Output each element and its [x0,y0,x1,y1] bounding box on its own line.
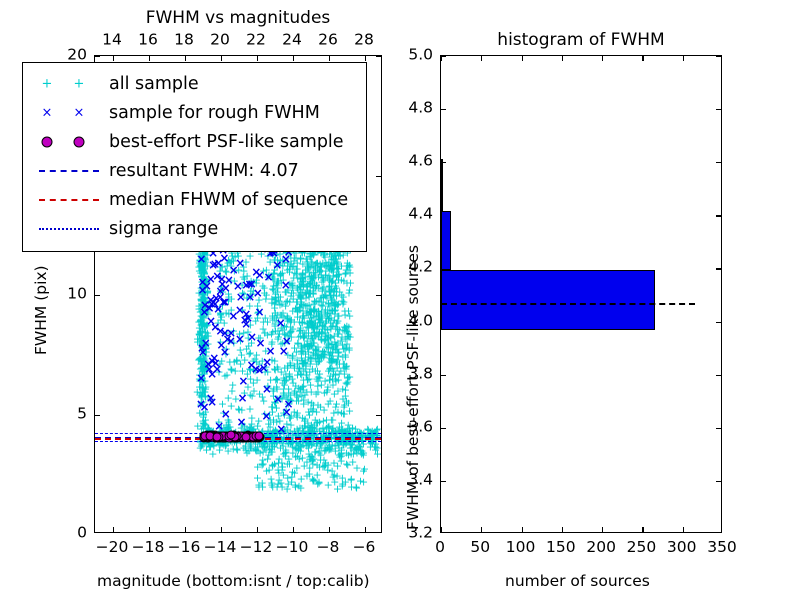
scatter-point-all-sample: + [272,403,281,414]
scatter-point-rough-fwhm: × [196,253,206,265]
hist-x-tick [522,527,523,532]
scatter-point-all-sample: + [224,255,233,266]
scatter-point-all-sample: + [299,279,308,290]
scatter-point-all-sample: + [320,347,329,358]
scatter-point-all-sample: + [200,268,209,279]
scatter-point-all-sample: + [199,387,208,398]
scatter-point-all-sample: + [308,285,317,296]
scatter-point-all-sample: + [195,329,204,340]
scatter-point-all-sample: + [325,443,334,454]
y-ticklabel: 20 [67,47,87,63]
scatter-point-all-sample: + [307,355,316,366]
scatter-point-all-sample: + [244,445,253,456]
scatter-point-all-sample: + [196,303,205,314]
scatter-point-all-sample: + [340,325,349,336]
scatter-point-all-sample: + [296,330,305,341]
scatter-point-all-sample: + [247,442,256,453]
scatter-point-all-sample: + [307,454,316,465]
scatter-point-all-sample: + [196,268,205,279]
scatter-point-all-sample: + [333,311,342,322]
scatter-point-all-sample: + [298,269,307,280]
scatter-point-all-sample: + [307,387,316,398]
scatter-point-all-sample: + [202,347,211,358]
scatter-point-all-sample: + [331,298,340,309]
scatter-point-all-sample: + [305,318,314,329]
scatter-point-all-sample: + [264,465,273,476]
scatter-point-all-sample: + [288,351,297,362]
scatter-point-all-sample: + [318,324,327,335]
scatter-point-rough-fwhm: × [254,364,264,376]
scatter-point-rough-fwhm: × [209,352,219,364]
x-ticklabel: −16 [168,540,201,556]
scatter-point-all-sample: + [300,415,309,426]
scatter-point-all-sample: + [321,309,330,320]
scatter-point-all-sample: + [325,264,334,275]
scatter-point-all-sample: + [271,307,280,318]
scatter-point-all-sample: + [315,478,324,489]
x-tick-top [149,56,150,61]
plus-marker-icon: + [42,77,53,90]
scatter-point-all-sample: + [330,470,339,481]
scatter-point-all-sample: + [238,365,247,376]
scatter-point-all-sample: + [332,298,341,309]
scatter-point-all-sample: + [198,283,207,294]
scatter-point-all-sample: + [203,320,212,331]
scatter-point-all-sample: + [318,283,327,294]
scatter-point-all-sample: + [299,275,308,286]
scatter-point-all-sample: + [198,311,207,322]
scatter-point-all-sample: + [258,392,267,403]
scatter-point-all-sample: + [314,477,323,488]
scatter-point-all-sample: + [342,333,351,344]
scatter-point-all-sample: + [321,304,330,315]
scatter-point-all-sample: + [221,349,230,360]
scatter-point-all-sample: + [318,320,327,331]
scatter-point-all-sample: + [325,301,334,312]
scatter-point-all-sample: + [288,467,297,478]
scatter-point-all-sample: + [296,483,305,494]
scatter-point-all-sample: + [312,406,321,417]
scatter-point-all-sample: + [301,264,310,275]
scatter-point-all-sample: + [276,478,285,489]
scatter-point-all-sample: + [272,374,281,385]
x-tick-top [365,56,366,61]
scatter-point-all-sample: + [307,315,316,326]
scatter-point-all-sample: + [195,369,204,380]
scatter-point-all-sample: + [199,299,208,310]
legend-item-label: sample for rough FWHM [109,103,320,123]
scatter-point-all-sample: + [200,365,209,376]
scatter-point-all-sample: + [302,281,311,292]
scatter-point-all-sample: + [357,446,366,457]
scatter-point-rough-fwhm: × [203,358,213,370]
scatter-point-all-sample: + [255,388,264,399]
scatter-point-all-sample: + [318,461,327,472]
scatter-point-all-sample: + [274,317,283,328]
scatter-point-all-sample: + [202,331,211,342]
scatter-point-rough-fwhm: × [244,278,254,290]
scatter-point-all-sample: + [200,355,209,366]
scatter-point-all-sample: + [203,288,212,299]
scatter-point-rough-fwhm: × [247,331,257,343]
scatter-point-all-sample: + [214,417,223,428]
scatter-point-all-sample: + [197,319,206,330]
scatter-point-all-sample: + [231,394,240,405]
scatter-point-all-sample: + [307,305,316,316]
scatter-point-all-sample: + [198,376,207,387]
scatter-point-all-sample: + [202,274,211,285]
scatter-point-all-sample: + [340,369,349,380]
scatter-point-all-sample: + [202,445,211,456]
scatter-point-all-sample: + [329,290,338,301]
scatter-point-all-sample: + [253,421,262,432]
scatter-point-all-sample: + [310,306,319,317]
scatter-point-all-sample: + [324,339,333,350]
scatter-point-rough-fwhm: × [199,401,209,413]
scatter-point-all-sample: + [338,394,347,405]
scatter-point-all-sample: + [321,457,330,468]
scatter-point-all-sample: + [197,331,206,342]
scatter-point-all-sample: + [328,262,337,273]
scatter-point-all-sample: + [371,442,380,453]
scatter-point-all-sample: + [294,425,303,436]
scatter-point-all-sample: + [200,369,209,380]
scatter-point-all-sample: + [306,453,315,464]
histogram-bar [441,270,655,330]
scatter-point-all-sample: + [227,294,236,305]
scatter-point-all-sample: + [267,355,276,366]
scatter-point-all-sample: + [343,257,352,268]
scatter-point-all-sample: + [337,275,346,286]
scatter-point-all-sample: + [312,295,321,306]
x-tick [113,527,114,532]
scatter-point-all-sample: + [332,470,341,481]
scatter-point-all-sample: + [247,412,256,423]
scatter-point-all-sample: + [344,397,353,408]
scatter-point-all-sample: + [303,341,312,352]
scatter-point-all-sample: + [302,386,311,397]
scatter-point-all-sample: + [364,425,373,436]
scatter-point-all-sample: + [344,449,353,460]
scatter-point-all-sample: + [320,442,329,453]
scatter-point-all-sample: + [340,321,349,332]
top-x-ticklabel: 24 [282,33,302,49]
hist-y-tick-right [716,109,721,110]
scatter-point-all-sample: + [327,426,336,437]
scatter-point-rough-fwhm: × [206,315,216,327]
scatter-point-all-sample: + [197,339,206,350]
scatter-point-all-sample: + [196,443,205,454]
scatter-point-all-sample: + [270,295,279,306]
scatter-point-all-sample: + [278,260,287,271]
scatter-point-all-sample: + [335,421,344,432]
scatter-point-all-sample: + [196,260,205,271]
scatter-point-rough-fwhm: × [217,278,227,290]
hist-x-tick [441,527,442,532]
scatter-point-all-sample: + [321,272,330,283]
scatter-point-all-sample: + [263,383,272,394]
scatter-point-all-sample: + [199,318,208,329]
scatter-point-all-sample: + [201,297,210,308]
scatter-point-all-sample: + [330,477,339,488]
scatter-point-all-sample: + [334,374,343,385]
scatter-point-all-sample: + [255,359,264,370]
hist-x-tick-top [562,56,563,61]
scatter-point-all-sample: + [203,339,212,350]
scatter-point-all-sample: + [216,336,225,347]
scatter-point-all-sample: + [314,314,323,325]
scatter-point-all-sample: + [269,268,278,279]
scatter-point-all-sample: + [194,287,203,298]
scatter-point-all-sample: + [200,336,209,347]
scatter-point-all-sample: + [291,381,300,392]
scatter-point-all-sample: + [201,331,210,342]
scatter-point-all-sample: + [287,278,296,289]
scatter-point-rough-fwhm: × [207,298,217,310]
scatter-point-all-sample: + [226,364,235,375]
scatter-point-all-sample: + [319,297,328,308]
scatter-point-all-sample: + [262,465,271,476]
plus-marker-icon: + [74,77,85,90]
scatter-point-all-sample: + [242,447,251,458]
scatter-point-all-sample: + [293,306,302,317]
scatter-point-all-sample: + [203,286,212,297]
scatter-point-all-sample: + [333,460,342,471]
scatter-point-all-sample: + [267,297,276,308]
scatter-point-all-sample: + [334,311,343,322]
scatter-point-all-sample: + [281,404,290,415]
scatter-point-all-sample: + [220,371,229,382]
scatter-point-all-sample: + [318,345,327,356]
scatter-point-rough-fwhm: × [266,345,276,357]
scatter-point-all-sample: + [260,283,269,294]
scatter-point-rough-fwhm: × [226,335,236,347]
scatter-point-all-sample: + [196,327,205,338]
scatter-point-all-sample: + [228,379,237,390]
scatter-point-all-sample: + [290,467,299,478]
scatter-point-all-sample: + [308,405,317,416]
scatter-point-all-sample: + [337,417,346,428]
scatter-point-all-sample: + [198,355,207,366]
hist-x-ticklabel: 100 [506,540,536,556]
scatter-point-all-sample: + [198,308,207,319]
scatter-point-all-sample: + [198,356,207,367]
scatter-point-all-sample: + [321,444,330,455]
scatter-point-all-sample: + [194,262,203,273]
scatter-point-all-sample: + [296,323,305,334]
scatter-point-all-sample: + [198,290,207,301]
scatter-point-all-sample: + [308,287,317,298]
scatter-point-all-sample: + [270,442,279,453]
scatter-point-all-sample: + [260,408,269,419]
scatter-point-all-sample: + [237,350,246,361]
scatter-point-all-sample: + [198,340,207,351]
scatter-point-all-sample: + [294,332,303,343]
scatter-point-all-sample: + [331,375,340,386]
scatter-point-all-sample: + [327,251,336,262]
scatter-point-all-sample: + [203,327,212,338]
scatter-point-all-sample: + [297,273,306,284]
scatter-point-rough-fwhm: × [224,274,234,286]
scatter-point-all-sample: + [299,310,308,321]
scatter-point-all-sample: + [333,343,342,354]
scatter-point-all-sample: + [277,322,286,333]
scatter-point-all-sample: + [279,383,288,394]
scatter-point-all-sample: + [287,395,296,406]
scatter-point-all-sample: + [293,272,302,283]
scatter-point-all-sample: + [268,311,277,322]
hist-y-ticklabel: 4.4 [408,207,433,223]
scatter-point-all-sample: + [198,263,207,274]
scatter-point-all-sample: + [290,317,299,328]
scatter-point-all-sample: + [273,333,282,344]
scatter-point-all-sample: + [250,365,259,376]
scatter-point-all-sample: + [337,450,346,461]
scatter-point-all-sample: + [280,329,289,340]
scatter-point-all-sample: + [307,330,316,341]
scatter-point-all-sample: + [269,391,278,402]
scatter-point-all-sample: + [298,276,307,287]
scatter-point-all-sample: + [331,253,340,264]
scatter-point-all-sample: + [268,441,277,452]
scatter-point-all-sample: + [199,266,208,277]
scatter-point-all-sample: + [292,355,301,366]
scatter-point-all-sample: + [200,272,209,283]
scatter-point-all-sample: + [312,323,321,334]
scatter-point-all-sample: + [320,460,329,471]
scatter-point-all-sample: + [335,287,344,298]
scatter-point-all-sample: + [221,265,230,276]
scatter-point-all-sample: + [274,411,283,422]
scatter-point-all-sample: + [301,301,310,312]
scatter-point-all-sample: + [301,287,310,298]
scatter-point-all-sample: + [309,475,318,486]
scatter-point-all-sample: + [224,422,233,433]
scatter-point-all-sample: + [299,425,308,436]
scatter-point-all-sample: + [251,315,260,326]
scatter-point-all-sample: + [302,265,311,276]
scatter-point-all-sample: + [296,369,305,380]
scatter-point-all-sample: + [305,271,314,282]
scatter-point-all-sample: + [297,346,306,357]
scatter-point-all-sample: + [317,379,326,390]
scatter-point-all-sample: + [324,441,333,452]
scatter-point-all-sample: + [261,361,270,372]
scatter-point-rough-fwhm: × [281,253,291,265]
scatter-point-all-sample: + [198,277,207,288]
scatter-point-all-sample: + [286,390,295,401]
scatter-point-all-sample: + [311,353,320,364]
scatter-point-all-sample: + [200,419,209,430]
scatter-point-all-sample: + [297,441,306,452]
scatter-point-all-sample: + [251,444,260,455]
scatter-point-all-sample: + [237,404,246,415]
scatter-point-all-sample: + [303,336,312,347]
scatter-point-all-sample: + [283,394,292,405]
scatter-point-all-sample: + [330,283,339,294]
scatter-point-all-sample: + [303,253,312,264]
scatter-point-all-sample: + [273,283,282,294]
scatter-point-all-sample: + [314,261,323,272]
scatter-point-all-sample: + [337,289,346,300]
scatter-point-all-sample: + [283,257,292,268]
scatter-point-all-sample: + [326,371,335,382]
scatter-point-all-sample: + [302,321,311,332]
scatter-point-all-sample: + [370,441,379,452]
scatter-point-all-sample: + [334,269,343,280]
scatter-point-rough-fwhm: × [207,368,217,380]
scatter-point-all-sample: + [277,310,286,321]
scatter-point-all-sample: + [328,355,337,366]
scatter-point-rough-fwhm: × [229,264,239,276]
scatter-point-all-sample: + [313,418,322,429]
scatter-point-all-sample: + [330,330,339,341]
scatter-point-all-sample: + [300,342,309,353]
scatter-point-all-sample: + [245,422,254,433]
scatter-point-all-sample: + [281,376,290,387]
scatter-point-all-sample: + [267,474,276,485]
scatter-point-all-sample: + [286,419,295,430]
scatter-point-all-sample: + [313,349,322,360]
scatter-point-all-sample: + [197,397,206,408]
scatter-point-all-sample: + [328,294,337,305]
scatter-point-all-sample: + [308,323,317,334]
scatter-point-all-sample: + [297,390,306,401]
scatter-point-all-sample: + [332,253,341,264]
scatter-point-all-sample: + [324,342,333,353]
scatter-point-all-sample: + [274,275,283,286]
scatter-point-all-sample: + [291,252,300,263]
scatter-point-all-sample: + [199,282,208,293]
scatter-point-all-sample: + [320,289,329,300]
scatter-point-all-sample: + [289,293,298,304]
scatter-point-all-sample: + [242,292,251,303]
scatter-point-rough-fwhm: × [219,296,229,308]
scatter-point-all-sample: + [311,311,320,322]
scatter-point-all-sample: + [316,333,325,344]
scatter-point-all-sample: + [197,258,206,269]
scatter-point-all-sample: + [328,465,337,476]
scatter-point-all-sample: + [326,322,335,333]
scatter-point-all-sample: + [308,279,317,290]
scatter-point-all-sample: + [278,377,287,388]
scatter-point-all-sample: + [327,354,336,365]
histogram-bar [441,211,451,271]
scatter-point-all-sample: + [331,341,340,352]
scatter-point-all-sample: + [314,372,323,383]
scatter-point-all-sample: + [305,261,314,272]
scatter-point-all-sample: + [297,340,306,351]
scatter-point-all-sample: + [322,414,331,425]
scatter-point-all-sample: + [299,300,308,311]
scatter-point-all-sample: + [279,469,288,480]
scatter-point-all-sample: + [276,270,285,281]
scatter-point-all-sample: + [303,318,312,329]
scatter-point-all-sample: + [318,300,327,311]
scatter-point-all-sample: + [323,381,332,392]
scatter-point-all-sample: + [274,478,283,489]
scatter-point-all-sample: + [195,375,204,386]
scatter-point-all-sample: + [356,441,365,452]
scatter-point-all-sample: + [328,414,337,425]
hist-y-tick-right [716,268,721,269]
scatter-point-all-sample: + [321,331,330,342]
scatter-point-all-sample: + [252,274,261,285]
scatter-point-all-sample: + [197,373,206,384]
scatter-point-all-sample: + [325,349,334,360]
scatter-point-all-sample: + [321,290,330,301]
scatter-point-all-sample: + [200,261,209,272]
